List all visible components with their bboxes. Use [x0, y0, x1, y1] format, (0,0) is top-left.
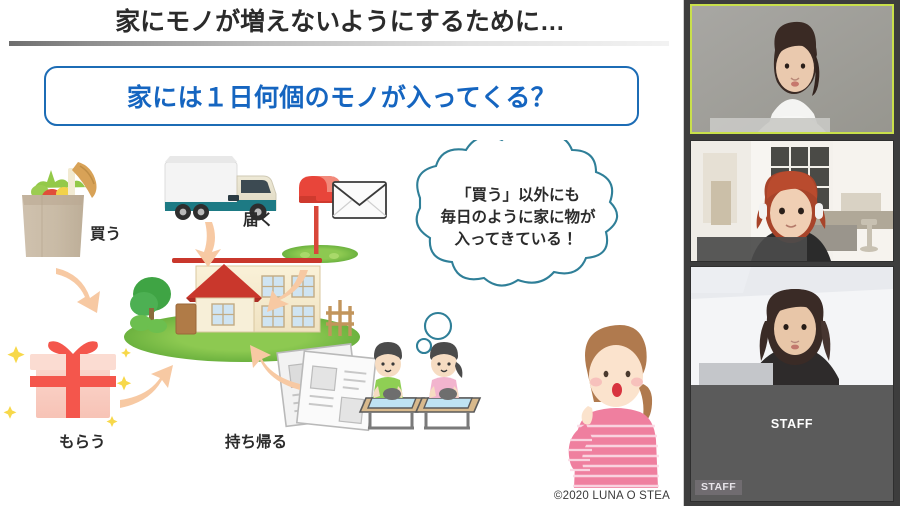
header-divider: [9, 41, 669, 46]
question-text: 家には１日何個のモノが入ってくる？: [127, 78, 556, 114]
shared-slide: 家にモノが増えないようにするために… 家には１日何個のモノが入ってくる？: [0, 0, 684, 506]
video-tile-participant-3[interactable]: STAFF STAFF: [690, 266, 894, 502]
thinking-woman-illustration: [568, 325, 659, 488]
video-tile-participant-2[interactable]: [690, 140, 894, 262]
staff-placeholder-text: STAFF: [691, 417, 893, 431]
illustration-artboard: 「買う」以外にも 毎日のように家に物が 入ってきている ！: [0, 140, 684, 496]
thought-bubble-text: 「買う」以外にも 毎日のように家に物が 入ってきている ！: [440, 185, 596, 248]
envelope-illustration: [333, 182, 386, 218]
slide-header: 家にモノが増えないようにするために…: [8, 2, 672, 38]
label-buy: 買う: [90, 222, 121, 244]
grocery-bag-illustration: [22, 162, 97, 257]
label-receive: もらう: [59, 430, 106, 452]
copyright-notice: ©2020 LUNA O STEA: [554, 490, 670, 502]
question-callout-box: 家には１日何個のモノが入ってくる？: [44, 66, 639, 126]
bubble-line-3: 入ってきている ！: [454, 230, 581, 248]
gift-box-illustration: [4, 341, 132, 427]
children-at-desks-illustration: [360, 342, 480, 428]
participant-2-camera-feed: [691, 141, 893, 261]
slide-canvas: 家にモノが増えないようにするために… 家には１日何個のモノが入ってくる？: [0, 0, 684, 506]
page-title: 家にモノが増えないようにするために…: [115, 2, 565, 38]
child-boy: [373, 342, 403, 400]
video-tile-participant-1[interactable]: [690, 4, 894, 134]
meeting-screen: 家にモノが増えないようにするために… 家には１日何個のモノが入ってくる？: [0, 0, 900, 506]
bubble-line-1: 「買う」以外にも: [456, 185, 580, 204]
participant-name-badge: STAFF: [695, 480, 742, 495]
child-girl: [429, 342, 462, 400]
bubble-line-2: 毎日のように家に物が: [440, 207, 596, 226]
participant-3-camera-feed: [691, 267, 893, 385]
participant-video-panel: STAFF STAFF: [684, 0, 900, 506]
participant-1-camera-feed: [692, 6, 892, 132]
label-deliver: 届く: [243, 208, 274, 230]
label-bring-home: 持ち帰る: [225, 430, 287, 452]
